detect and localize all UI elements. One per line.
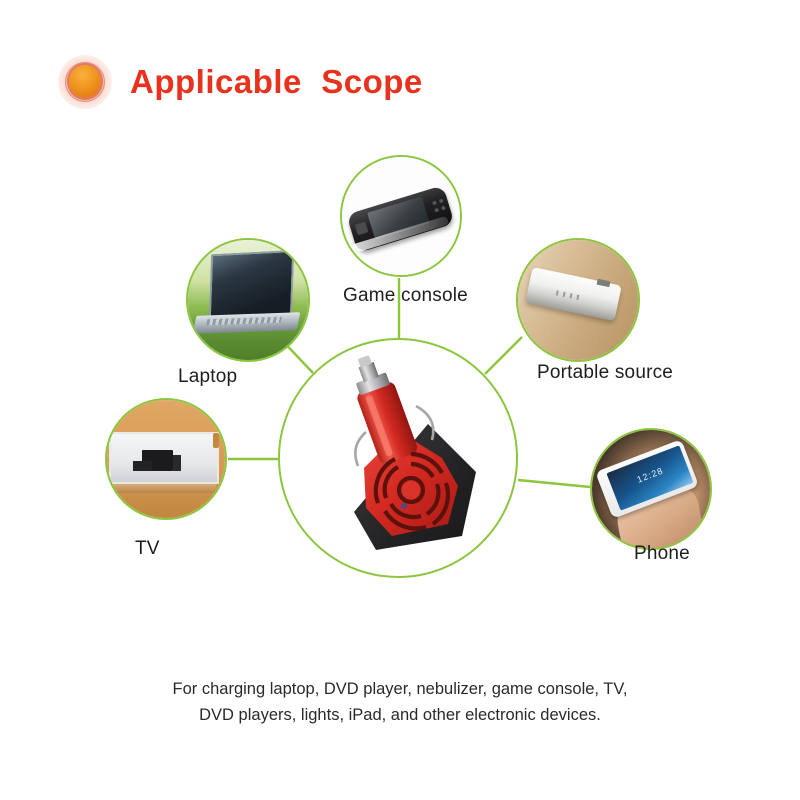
- flat-screen-tv-photo: [107, 400, 225, 518]
- node-label-tv: TV: [135, 538, 160, 560]
- caption-line-1: For charging laptop, DVD player, nebuliz…: [0, 676, 800, 702]
- node-tv[interactable]: [105, 398, 227, 520]
- tv-stand: [112, 484, 216, 493]
- node-label-phone: Phone: [634, 543, 690, 565]
- node-label-game-console: Game console: [343, 285, 468, 307]
- inverter-fan-led: [401, 503, 407, 509]
- power-bank-on-wood-photo: [518, 240, 638, 360]
- hand-holding-smartphone-photo: 12:28: [592, 430, 710, 548]
- node-label-laptop: Laptop: [178, 366, 237, 388]
- center-node-product: [278, 338, 518, 578]
- node-label-portable-source: Portable source: [537, 362, 673, 384]
- car-power-inverter-illustration: [280, 340, 518, 578]
- tv-screen-content-secondary: [133, 461, 152, 470]
- laptop-on-grass-photo: [188, 240, 308, 360]
- caption-line-2: DVD players, lights, iPad, and other ele…: [0, 702, 800, 728]
- tv-wall-edge: [213, 433, 219, 448]
- node-phone[interactable]: 12:28: [590, 428, 712, 550]
- connector-center-to-phone: [518, 480, 590, 487]
- inverter-fan-hub: [402, 481, 420, 499]
- tv-screen-content-speaker: [173, 455, 181, 470]
- node-laptop[interactable]: [186, 238, 310, 362]
- inverter-side-clip-left: [355, 432, 366, 466]
- applicable-scope-infographic: Applicable Scope: [0, 0, 800, 800]
- node-portable-source[interactable]: [516, 238, 640, 362]
- handheld-game-console-photo: [342, 157, 460, 275]
- caption: For charging laptop, DVD player, nebuliz…: [0, 676, 800, 728]
- node-game-console[interactable]: [340, 155, 462, 277]
